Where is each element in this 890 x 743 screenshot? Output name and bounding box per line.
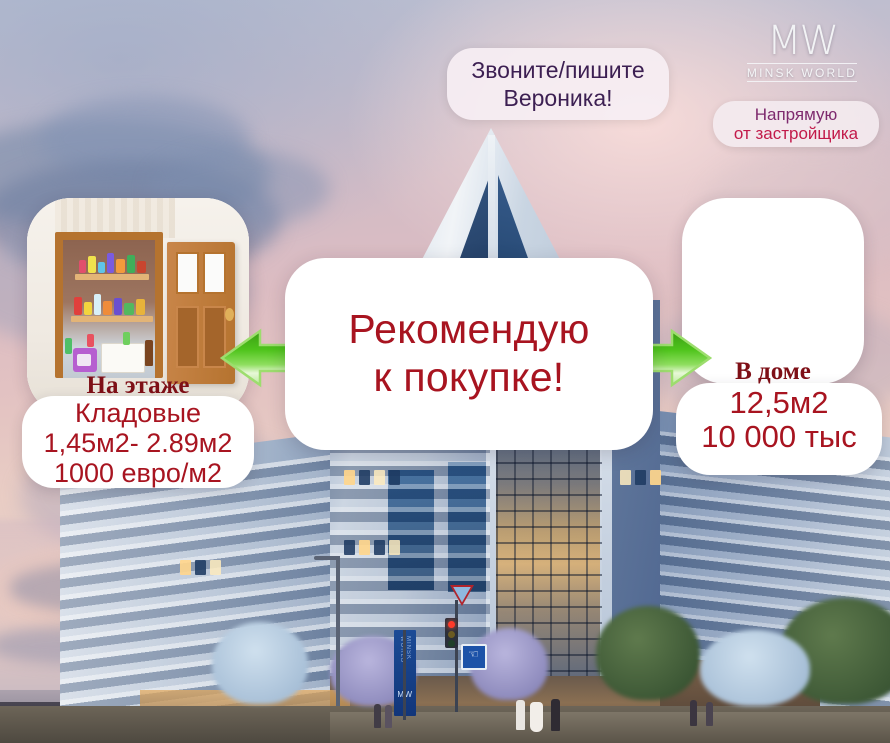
window bbox=[359, 470, 370, 485]
jar bbox=[127, 255, 135, 273]
jar bbox=[114, 298, 122, 315]
shelf bbox=[75, 274, 149, 280]
jar bbox=[124, 303, 134, 315]
contact-bubble-line1: Звоните/пишите bbox=[471, 56, 644, 84]
storage-info-line3: 1000 евро/м2 bbox=[22, 458, 254, 488]
window-row bbox=[344, 540, 400, 555]
recommendation-line2: к покупке! bbox=[348, 354, 589, 402]
window bbox=[389, 540, 400, 555]
shelf bbox=[71, 316, 153, 322]
window bbox=[210, 560, 221, 575]
jar bbox=[74, 297, 82, 315]
person bbox=[385, 705, 392, 728]
jar bbox=[137, 261, 146, 273]
badge-line1: Напрямую bbox=[755, 105, 838, 124]
street-lamp-arm bbox=[314, 556, 338, 560]
person bbox=[551, 699, 560, 731]
recommendation-line1: Рекомендую bbox=[348, 306, 589, 354]
window bbox=[195, 560, 206, 575]
recommendation-card: Рекомендую к покупке! bbox=[285, 258, 653, 450]
yield-sign-icon bbox=[449, 584, 475, 607]
street-lamp-pole bbox=[336, 556, 340, 706]
jar bbox=[65, 338, 72, 354]
sign-pole bbox=[455, 600, 458, 712]
tree bbox=[596, 606, 700, 700]
storage-info-line1: Кладовые bbox=[22, 398, 254, 428]
storage-card-info: Кладовые 1,45м2- 2.89м2 1000 евро/м2 bbox=[22, 396, 254, 488]
jar bbox=[79, 260, 86, 273]
tree bbox=[700, 630, 810, 706]
window bbox=[374, 470, 385, 485]
badge-line2: от застройщика bbox=[734, 124, 858, 143]
storage-info-line2: 1,45м2- 2.89м2 bbox=[22, 428, 254, 458]
person bbox=[706, 702, 713, 726]
window bbox=[650, 470, 661, 485]
person bbox=[516, 700, 525, 730]
plaza bbox=[330, 712, 890, 743]
window bbox=[389, 470, 400, 485]
parking-info-line1: 12,5м2 bbox=[676, 386, 882, 420]
jar bbox=[87, 334, 94, 347]
pedestrian-glyph: ☜ bbox=[468, 647, 476, 662]
jar bbox=[116, 259, 125, 273]
contact-bubble-text: Звоните/пишите Вероника! bbox=[471, 56, 644, 112]
door-knob bbox=[225, 308, 234, 321]
window bbox=[180, 560, 191, 575]
window-row bbox=[620, 470, 661, 485]
person bbox=[530, 702, 543, 732]
mw-monogram-icon: МW bbox=[742, 20, 862, 62]
direct-from-developer-badge: Напрямую от застройщика bbox=[713, 101, 879, 147]
window bbox=[374, 540, 385, 555]
parking-info-line2: 10 000 тыс bbox=[676, 420, 882, 454]
traffic-light-yellow bbox=[448, 631, 455, 638]
tree bbox=[212, 622, 308, 704]
jar bbox=[88, 256, 96, 273]
jar bbox=[98, 262, 105, 273]
banner-pole bbox=[403, 630, 406, 720]
jar bbox=[123, 332, 130, 345]
storage-box bbox=[101, 343, 145, 373]
window bbox=[359, 540, 370, 555]
person bbox=[690, 700, 697, 726]
window bbox=[344, 540, 355, 555]
jar bbox=[84, 302, 92, 315]
window-row bbox=[344, 470, 400, 485]
contact-bubble: Звоните/пишите Вероника! bbox=[447, 48, 669, 120]
person bbox=[374, 704, 381, 728]
parking-card-info: 12,5м2 10 000 тыс bbox=[676, 383, 882, 475]
advertisement-image: MINSK WORLD МW ☜ Звоните/пишите Вероника… bbox=[0, 0, 890, 743]
jar bbox=[94, 294, 101, 315]
traffic-light-red bbox=[448, 621, 455, 628]
jar bbox=[107, 253, 114, 273]
door-glass-pane bbox=[203, 252, 226, 294]
window bbox=[620, 470, 631, 485]
traffic-light-green bbox=[448, 640, 455, 647]
jar bbox=[103, 301, 112, 315]
bin-door bbox=[77, 354, 91, 366]
door-glass-pane bbox=[176, 252, 199, 294]
window bbox=[635, 470, 646, 485]
window bbox=[344, 470, 355, 485]
recommendation-text: Рекомендую к покупке! bbox=[348, 306, 589, 401]
storage-card-label: На этаже bbox=[27, 372, 249, 400]
jar bbox=[136, 299, 145, 315]
door-wood-pane bbox=[176, 306, 199, 368]
bottle bbox=[145, 340, 153, 366]
window-row bbox=[180, 560, 221, 575]
brand-wordmark: MINSK WORLD bbox=[747, 63, 857, 82]
brand-logo: МW MINSK WORLD bbox=[742, 20, 862, 92]
contact-bubble-line2: Вероника! bbox=[471, 84, 644, 112]
